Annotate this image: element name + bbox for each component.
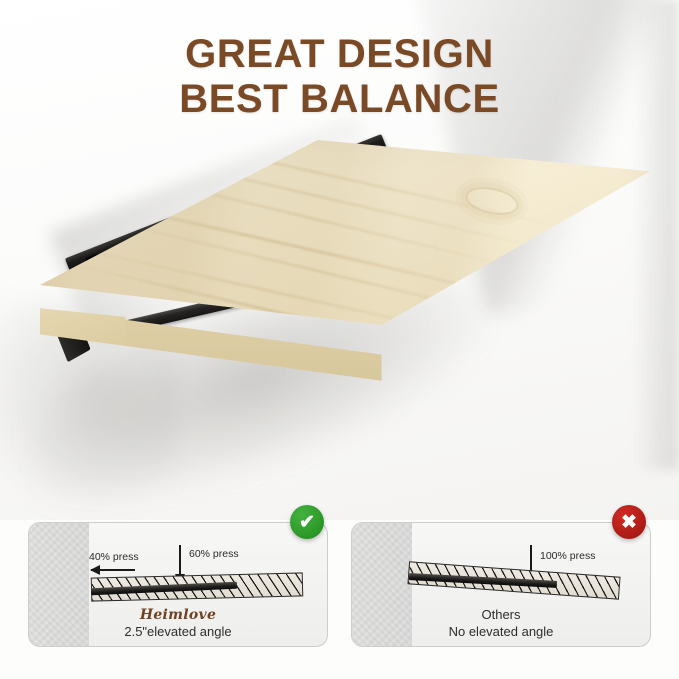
arrow-left-icon (91, 569, 135, 571)
wood-grain-line (84, 163, 512, 268)
caption-others: Others (352, 607, 650, 623)
cross-icon: ✖ (612, 505, 646, 539)
wood-grain-line (84, 214, 551, 328)
label-60-percent-press: 60% press (189, 548, 239, 560)
panel-others: 100% press Others No elevated angle (351, 522, 651, 647)
product-photo (0, 110, 679, 510)
product-marketing-image: GREAT DESIGN BEST BALANCE 40% press (0, 0, 679, 679)
headline-line-2: BEST BALANCE (0, 77, 679, 122)
check-icon: ✔ (290, 505, 324, 539)
comparison-section: 40% press 60% press Heimlove 2.5"elevate… (0, 514, 679, 659)
wood-knot (463, 183, 521, 220)
page-title: GREAT DESIGN BEST BALANCE (0, 32, 679, 122)
wood-grain-line (56, 114, 564, 229)
brand-logo: Heimlove (29, 607, 327, 623)
panel-heimlove: 40% press 60% press Heimlove 2.5"elevate… (28, 522, 328, 647)
label-40-percent-press: 40% press (89, 551, 139, 563)
caption-no-elevated-angle: No elevated angle (352, 624, 650, 640)
headline-line-1: GREAT DESIGN (0, 32, 679, 77)
arrow-down-icon (179, 545, 181, 575)
label-100-percent-press: 100% press (540, 550, 595, 562)
caption-elevated-angle: 2.5"elevated angle (29, 624, 327, 640)
wood-shelf-board (18, 120, 658, 510)
